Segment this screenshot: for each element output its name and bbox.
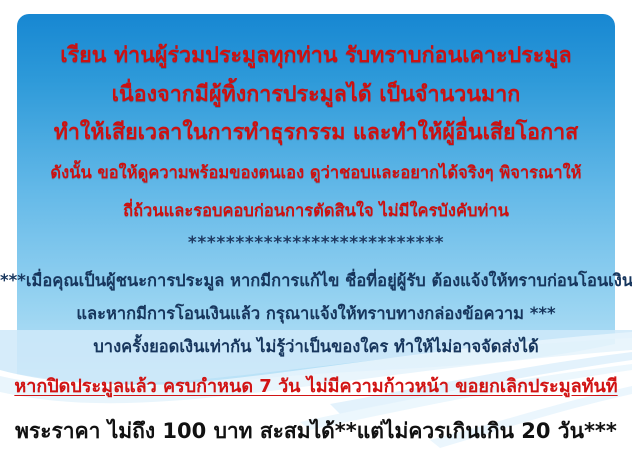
auction-notice-poster: เรียน ท่านผู้ร่วมประมูลทุกท่าน รับทราบก่… xyxy=(0,0,632,474)
winner-notice-line-1: ***เมื่อคุณเป็นผู้ชนะการประมูล หากมีการแ… xyxy=(0,273,632,290)
headline-line-3: ทำให้เสียเวลาในการทำธุรกรรม และทำให้ผู้อ… xyxy=(0,122,632,144)
headline-line-1: เรียน ท่านผู้ร่วมประมูลทุกท่าน รับทราบก่… xyxy=(0,45,632,67)
star-divider: *************************** xyxy=(0,235,632,252)
winner-notice-line-3: บางครั้งยอดเงินเท่ากัน ไม่รู้ว่าเป็นของใ… xyxy=(0,339,632,356)
cancellation-warning: หากปิดประมูลแล้ว ครบกำหนด 7 วัน ไม่มีควา… xyxy=(0,378,632,396)
price-footer: พระราคา ไม่ถึง 100 บาท สะสมได้**แต่ไม่คว… xyxy=(0,421,632,442)
winner-notice-line-2: และหากมีการโอนเงินแล้ว กรุณาแจ้งให้ทราบท… xyxy=(0,306,632,323)
poster-text-layer: เรียน ท่านผู้ร่วมประมูลทุกท่าน รับทราบก่… xyxy=(0,0,632,474)
headline-line-2: เนื่องจากมีผู้ทิ้งการประมูลได้ เป็นจำนวน… xyxy=(0,84,632,106)
advice-line-1: ดังนั้น ขอให้ดูความพร้อมของตนเอง ดูว่าชอ… xyxy=(0,165,632,182)
advice-line-2: ถี่ถ้วนและรอบคอบก่อนการตัดสินใจ ไม่มีใคร… xyxy=(0,203,632,220)
